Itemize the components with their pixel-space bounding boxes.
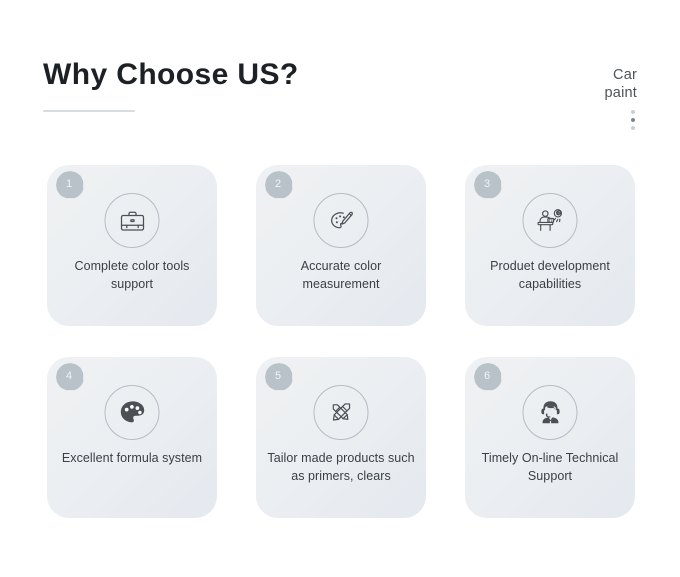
corner-brand-label: Car paint	[605, 66, 637, 102]
headset-agent-icon	[523, 385, 578, 440]
dot-3	[631, 126, 635, 130]
card-description: Accurate color measurement	[264, 257, 418, 293]
feature-card-2[interactable]: 2 Accurate color measurement	[256, 165, 426, 326]
title-underline-rule	[43, 110, 135, 112]
dot-2	[631, 118, 635, 122]
page-header: Why Choose US? Car paint	[0, 0, 680, 150]
card-number-badge: 2	[265, 171, 293, 199]
card-number-badge: 6	[474, 363, 502, 391]
card-number-badge: 1	[56, 171, 84, 199]
card-description: Timely On-line Technical Support	[473, 449, 627, 485]
corner-label-line-1: Car	[605, 66, 637, 84]
crossed-pencils-icon	[314, 385, 369, 440]
feature-card-3[interactable]: 3 Produet development capabilities	[465, 165, 635, 326]
person-desk-gear-icon	[523, 193, 578, 248]
corner-label-line-2: paint	[605, 84, 637, 102]
feature-card-5[interactable]: 5 Tailor made products such as primers, …	[256, 357, 426, 518]
page-title: Why Choose US?	[43, 60, 299, 90]
card-description: Tailor made products such as primers, cl…	[264, 449, 418, 485]
card-number-badge: 4	[56, 363, 84, 391]
feature-card-1[interactable]: 1 Complete color tools support	[47, 165, 217, 326]
palette-brush-icon	[314, 193, 369, 248]
feature-card-6[interactable]: 6 Timely On-line Technical Support	[465, 357, 635, 518]
feature-card-4[interactable]: 4 Excellent formula system	[47, 357, 217, 518]
card-description: Excellent formula system	[55, 449, 209, 467]
briefcase-icon	[105, 193, 160, 248]
card-number-badge: 5	[265, 363, 293, 391]
dot-1	[631, 110, 635, 114]
card-number-badge: 3	[474, 171, 502, 199]
vertical-dots-icon	[631, 110, 635, 130]
card-description: Complete color tools support	[55, 257, 209, 293]
palette-filled-icon	[105, 385, 160, 440]
card-description: Produet development capabilities	[473, 257, 627, 293]
feature-cards-grid: 1 Complete color tools support 2	[47, 165, 636, 518]
